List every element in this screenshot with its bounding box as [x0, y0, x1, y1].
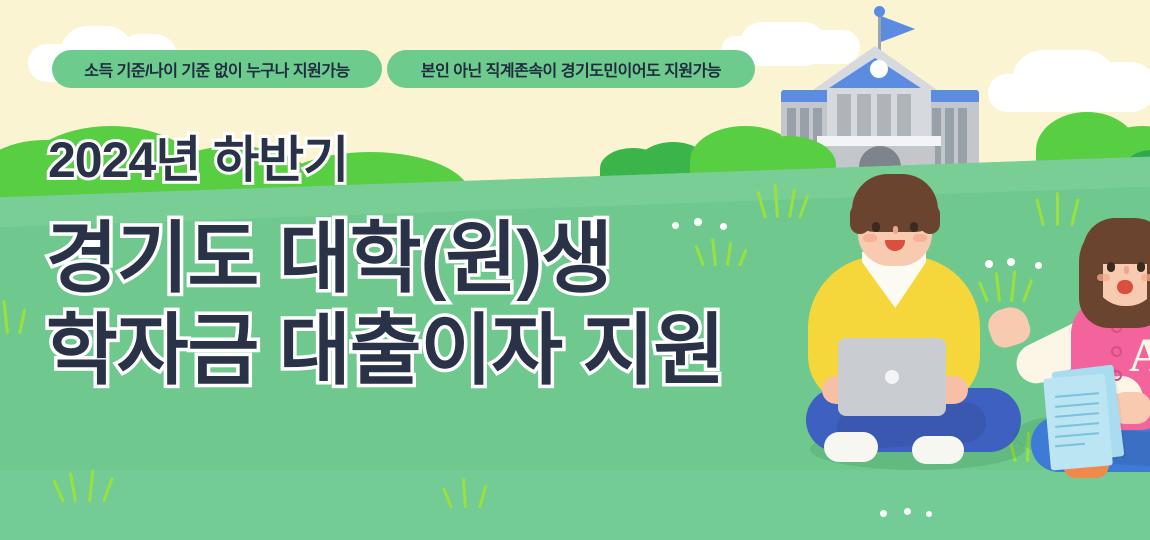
document-front	[1043, 373, 1113, 470]
headline-year-term: 2024년 하반기	[48, 120, 348, 192]
foreground-ground	[0, 470, 1150, 540]
jacket-letter-a: A	[1129, 328, 1150, 383]
open-hand	[984, 303, 1034, 352]
badge-lineal-ascendant: 본인 아닌 직계존속이 경기도민이어도 지원가능	[387, 50, 755, 88]
flag-pennant	[881, 16, 915, 42]
badge-income-age: 소득 기준/나이 기준 없이 누구나 지원가능	[52, 50, 382, 88]
sneaker-right	[912, 436, 964, 464]
right-wing-roof	[925, 90, 979, 102]
grass-dots	[880, 508, 940, 520]
grass-tuft	[700, 236, 756, 266]
grass-dots	[672, 218, 750, 232]
entablature	[817, 136, 941, 146]
grass-tuft	[60, 470, 124, 502]
headline-line-2: 학자금 대출이자 지원	[46, 288, 724, 400]
sneaker-left	[824, 432, 878, 462]
promo-banner: A 소득 기준/나이 기준 없이 누구나 지원가능 본인 아닌 직계존속이 경기…	[0, 0, 1150, 540]
female-student-figure: A	[985, 200, 1150, 490]
pediment-clock	[870, 60, 888, 78]
grass-tuft	[448, 478, 500, 508]
grass-tuft	[0, 300, 30, 334]
